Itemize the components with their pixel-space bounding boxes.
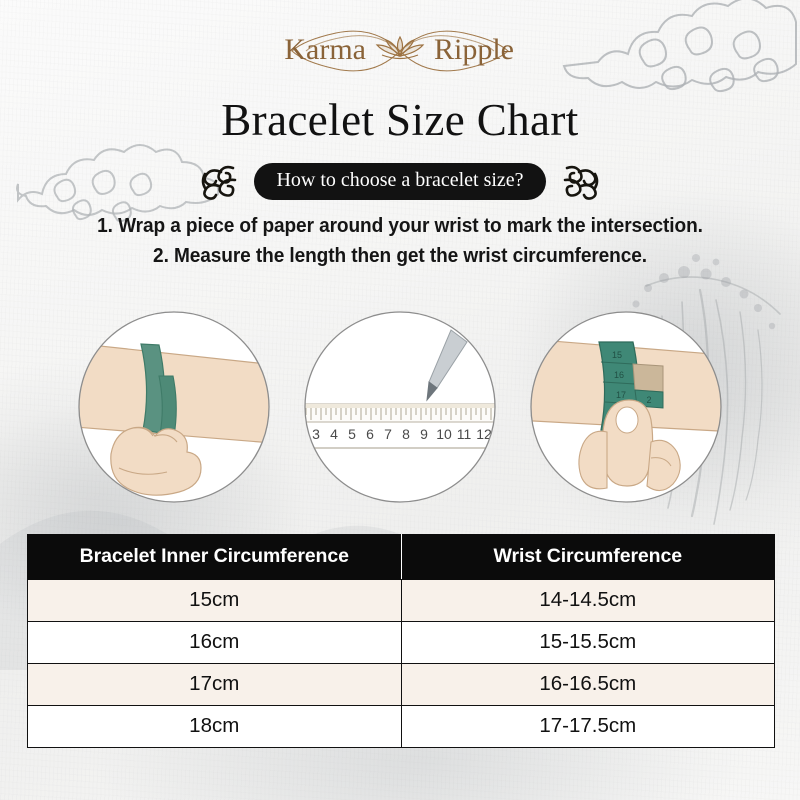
svg-text:15: 15 <box>612 350 622 360</box>
svg-text:8: 8 <box>402 426 410 442</box>
page-title: Bracelet Size Chart <box>0 94 800 146</box>
table-header-bracelet: Bracelet Inner Circumference <box>28 535 402 580</box>
size-chart-page: Karma Ripple Bracelet Size Chart How to … <box>0 0 800 800</box>
svg-text:10: 10 <box>436 426 452 442</box>
cell-wrist-circumference: 16-16.5cm <box>401 664 775 706</box>
svg-text:6: 6 <box>366 426 374 442</box>
cell-bracelet-circumference: 16cm <box>28 622 402 664</box>
cell-bracelet-circumference: 17cm <box>28 664 402 706</box>
cell-wrist-circumference: 14-14.5cm <box>401 580 775 622</box>
table-row: 18cm 17-17.5cm <box>28 706 775 748</box>
svg-text:17: 17 <box>616 390 626 400</box>
table-row: 16cm 15-15.5cm <box>28 622 775 664</box>
instruction-step-1: 1. Wrap a piece of paper around your wri… <box>28 211 772 241</box>
brand-name-left: Karma <box>284 33 366 66</box>
svg-text:11: 11 <box>457 426 472 442</box>
svg-text:9: 9 <box>420 426 428 442</box>
table-row: 17cm 16-16.5cm <box>28 664 775 706</box>
instructions-list: 1. Wrap a piece of paper around your wri… <box>0 211 800 271</box>
cell-bracelet-circumference: 18cm <box>28 706 402 748</box>
subtitle-pill: How to choose a bracelet size? <box>254 163 545 200</box>
cloud-swirl-icon-left <box>199 162 241 200</box>
cloud-swirl-icon-right <box>559 162 601 200</box>
illustration-read-measuring-tape: 151617 2 <box>527 308 725 506</box>
table-header-wrist: Wrist Circumference <box>401 535 775 580</box>
cell-wrist-circumference: 15-15.5cm <box>401 622 775 664</box>
illustration-row: 345 678 91011 12 <box>0 308 800 508</box>
svg-text:4: 4 <box>330 426 338 442</box>
svg-text:5: 5 <box>348 426 356 442</box>
size-chart-table: Bracelet Inner Circumference Wrist Circu… <box>27 534 775 748</box>
brand-logo: Karma Ripple <box>0 24 800 80</box>
illustration-measure-with-ruler: 345 678 91011 12 <box>301 308 499 506</box>
subtitle-band: How to choose a bracelet size? <box>0 160 800 202</box>
table-row: 15cm 14-14.5cm <box>28 580 775 622</box>
brand-name-right: Ripple <box>434 33 514 66</box>
illustration-wrap-paper-around-wrist <box>75 308 273 506</box>
cell-wrist-circumference: 17-17.5cm <box>401 706 775 748</box>
table-header-row: Bracelet Inner Circumference Wrist Circu… <box>28 535 775 580</box>
instruction-step-2: 2. Measure the length then get the wrist… <box>28 241 772 271</box>
svg-text:3: 3 <box>312 426 320 442</box>
cell-bracelet-circumference: 15cm <box>28 580 402 622</box>
svg-text:2: 2 <box>646 395 651 405</box>
svg-text:7: 7 <box>384 426 392 442</box>
svg-text:16: 16 <box>614 370 624 380</box>
